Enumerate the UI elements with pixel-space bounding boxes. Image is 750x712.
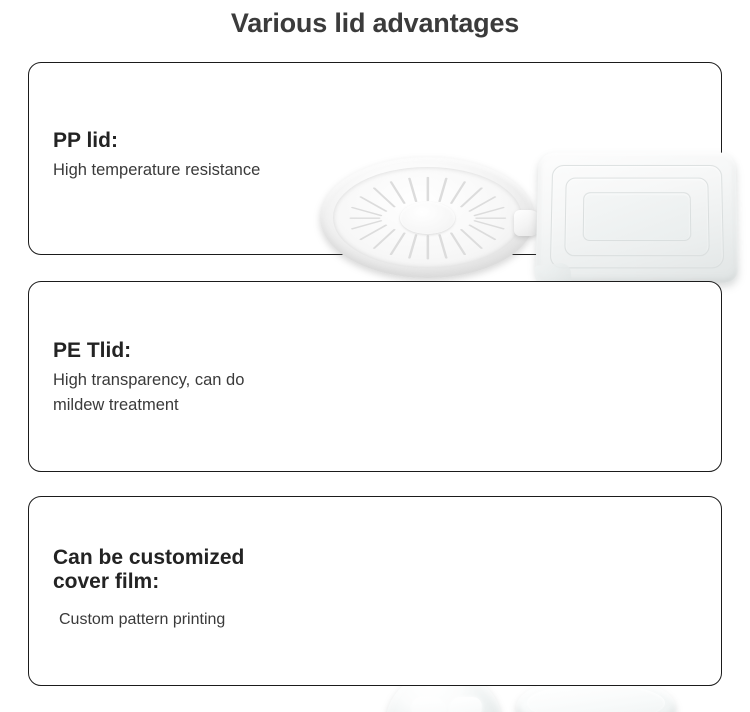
card-pp-title: PP lid: [53, 129, 260, 153]
dome-lid-highlight-right [447, 697, 482, 712]
round-lid-body [320, 157, 535, 278]
card-cover-film: Can be customized cover film: Custom pat… [28, 496, 722, 686]
card-pet-text-block: PE Tlid: High transparency, can do milde… [53, 339, 244, 418]
rect-lid-ridge-inner [583, 192, 692, 241]
card-film-title: Can be customized cover film: [53, 546, 244, 595]
card-film-text-block: Can be customized cover film: Custom pat… [53, 546, 244, 632]
card-pp-description: High temperature resistance [53, 158, 260, 183]
oval-lid-inner-face [527, 684, 665, 712]
card-pet-description: High transparency, can do mildew treatme… [53, 368, 244, 418]
card-pp-text-block: PP lid: High temperature resistance [53, 129, 260, 183]
rectangular-pp-lid-image [537, 151, 737, 282]
dome-lid-highlight-left [412, 697, 447, 712]
card-pet-lid: PE Tlid: High transparency, can do milde… [28, 281, 722, 472]
infographic-page: Various lid advantages PP lid: High temp… [0, 0, 750, 712]
card-pp-lid: PP lid: High temperature resistance [28, 62, 722, 255]
rect-lid-body [535, 152, 738, 282]
card-film-description: Custom pattern printing [53, 608, 244, 632]
round-pp-lid-image [320, 157, 535, 278]
card-pet-title: PE Tlid: [53, 339, 244, 363]
page-title: Various lid advantages [0, 8, 750, 39]
